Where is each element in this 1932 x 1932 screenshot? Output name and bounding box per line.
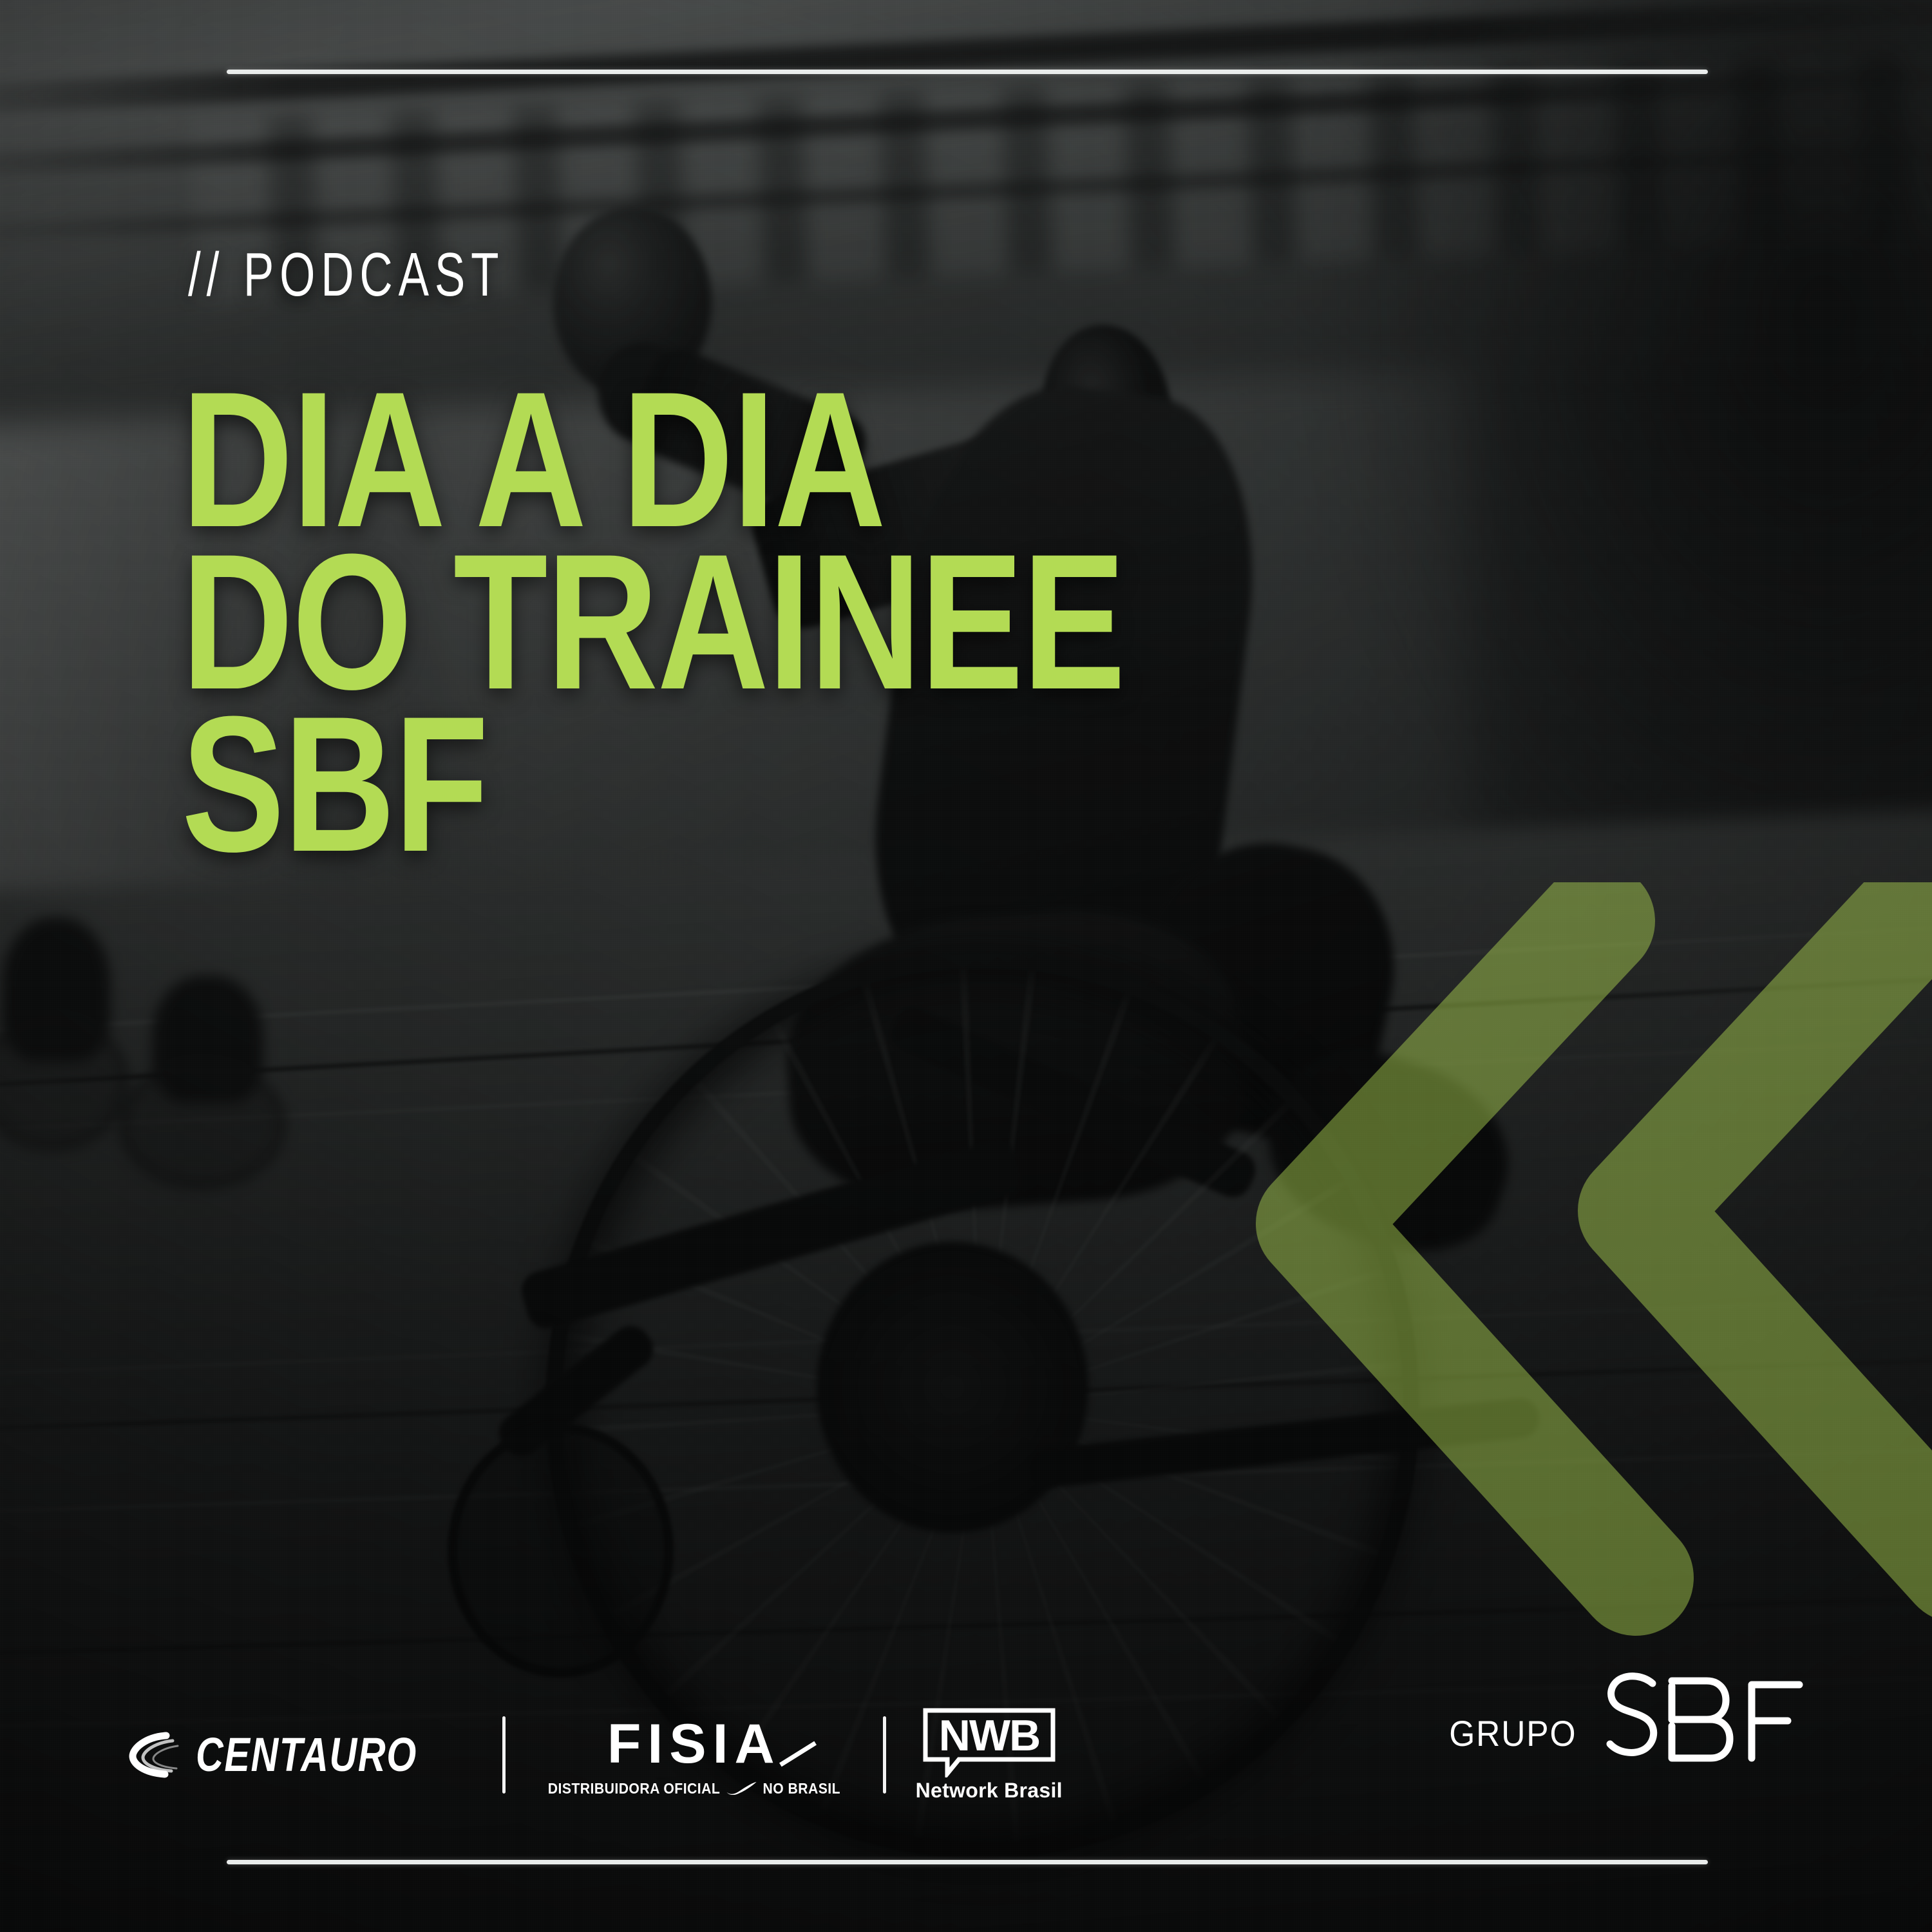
title-line-2: DO TRAINEE [182,546,1418,697]
svg-text:NWB: NWB [939,1711,1039,1760]
fisia-wordmark-text: FISIA [607,1712,781,1776]
bottom-divider-rule [227,1860,1708,1864]
title-line-1: DIA A DIA [182,384,1418,535]
fisia-wordmark: FISIA [607,1712,781,1776]
nike-swoosh-icon [726,1782,757,1795]
partner-logo-strip: CENTAURO FISIA DISTRIBUIDORA OFICIAL NO … [126,1707,1063,1803]
fisia-tagline-before: DISTRIBUIDORA OFICIAL [548,1780,720,1797]
nwb-subtitle: Network Brasil [916,1779,1063,1803]
logo-divider [502,1716,506,1794]
fisia-tagline: DISTRIBUIDORA OFICIAL NO BRASIL [548,1780,840,1797]
page-title: DIA A DIA DO TRAINEE SBF [182,384,1727,871]
logo-divider [883,1716,886,1794]
centauro-wordmark: CENTAURO [196,1727,417,1782]
partner-logo-fisia: FISIA DISTRIBUIDORA OFICIAL NO BRASIL [535,1712,853,1797]
brand-logo-grupo-sbf: GRUPO [1438,1667,1806,1776]
centauro-arc-icon [126,1730,182,1779]
partner-logo-nwb: NWB Network Brasil [916,1707,1063,1803]
partner-logo-centauro: CENTAURO [126,1727,473,1782]
top-divider-rule [227,70,1708,74]
nwb-speech-bubble-icon: NWB [922,1707,1057,1777]
brand-prefix: GRUPO [1449,1712,1577,1776]
podcast-cover: // PODCAST DIA A DIA DO TRAINEE SBF CENT… [0,0,1932,1932]
title-line-3: SBF [182,708,1418,859]
double-left-chevron-icon [1236,882,1932,1642]
kicker-label: // PODCAST [188,240,504,310]
fisia-tagline-after: NO BRASIL [762,1780,840,1797]
sbf-monogram-icon [1593,1667,1806,1776]
